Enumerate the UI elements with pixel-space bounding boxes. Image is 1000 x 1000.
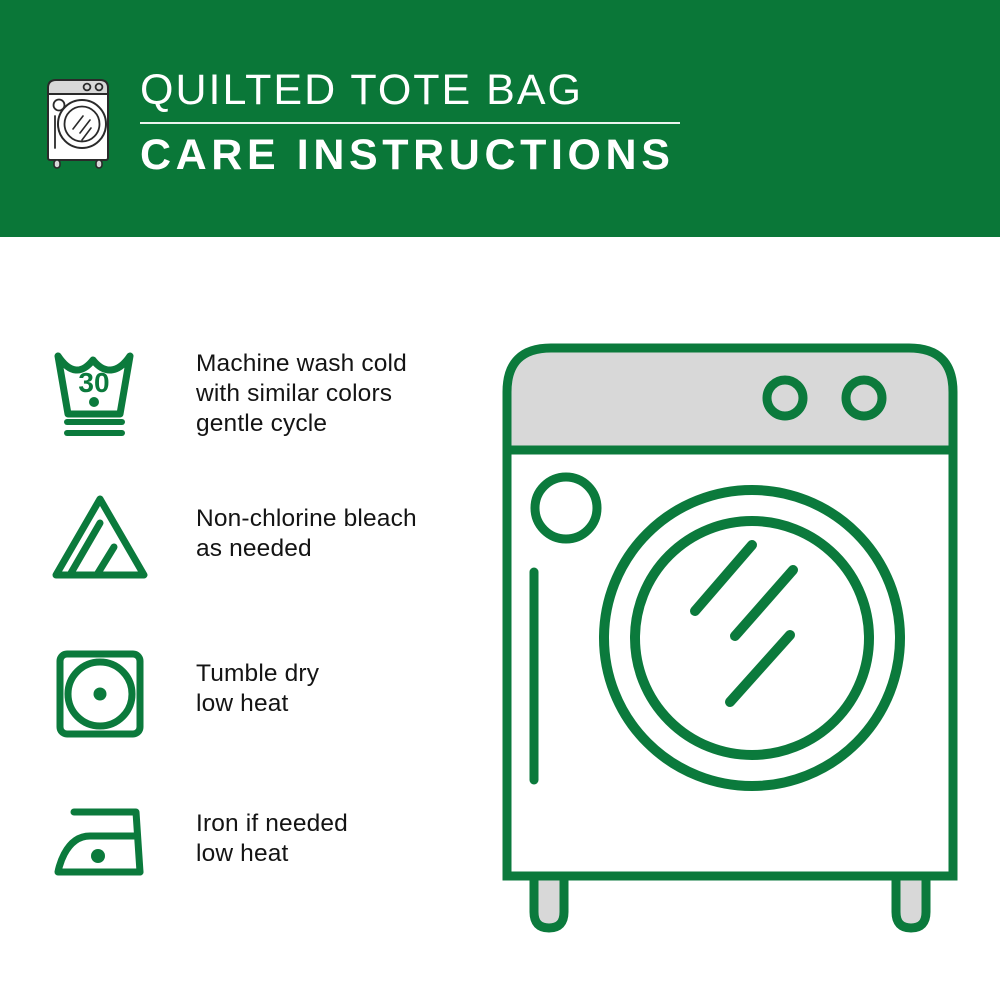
care-instructions-page: QUILTED TOTE BAG CARE INSTRUCTIONS 30 (0, 0, 1000, 1000)
iron-low-heat-icon (48, 787, 166, 897)
care-row-wash: 30 Machine wash cold with similar colors… (48, 337, 407, 447)
care-text-iron: Iron if needed low heat (196, 787, 348, 869)
care-row-iron: Iron if needed low heat (48, 787, 348, 897)
care-text-wash: Machine wash cold with similar colors ge… (196, 337, 407, 439)
page-subtitle: CARE INSTRUCTIONS (140, 129, 700, 181)
care-text-tumble-dry: Tumble dry low heat (196, 637, 319, 719)
title-divider (140, 122, 680, 124)
leg-right (896, 876, 926, 928)
care-row-tumble-dry: Tumble dry low heat (48, 637, 319, 747)
wash-tub-30-gentle-icon: 30 (48, 337, 166, 447)
washing-machine-icon (42, 66, 116, 170)
header-banner: QUILTED TOTE BAG CARE INSTRUCTIONS (0, 0, 1000, 237)
page-title: QUILTED TOTE BAG (140, 64, 700, 116)
header-text-block: QUILTED TOTE BAG CARE INSTRUCTIONS (140, 64, 700, 181)
care-row-bleach: Non-chlorine bleach as needed (48, 482, 417, 592)
wash-temp-label: 30 (78, 367, 109, 398)
leg-left (534, 876, 564, 928)
care-instruction-list: 30 Machine wash cold with similar colors… (0, 237, 470, 1000)
front-load-washing-machine-illustration (490, 330, 980, 940)
care-text-bleach: Non-chlorine bleach as needed (196, 482, 417, 564)
tumble-dry-low-icon (48, 637, 166, 747)
bleach-triangle-non-chlorine-icon (48, 482, 166, 592)
